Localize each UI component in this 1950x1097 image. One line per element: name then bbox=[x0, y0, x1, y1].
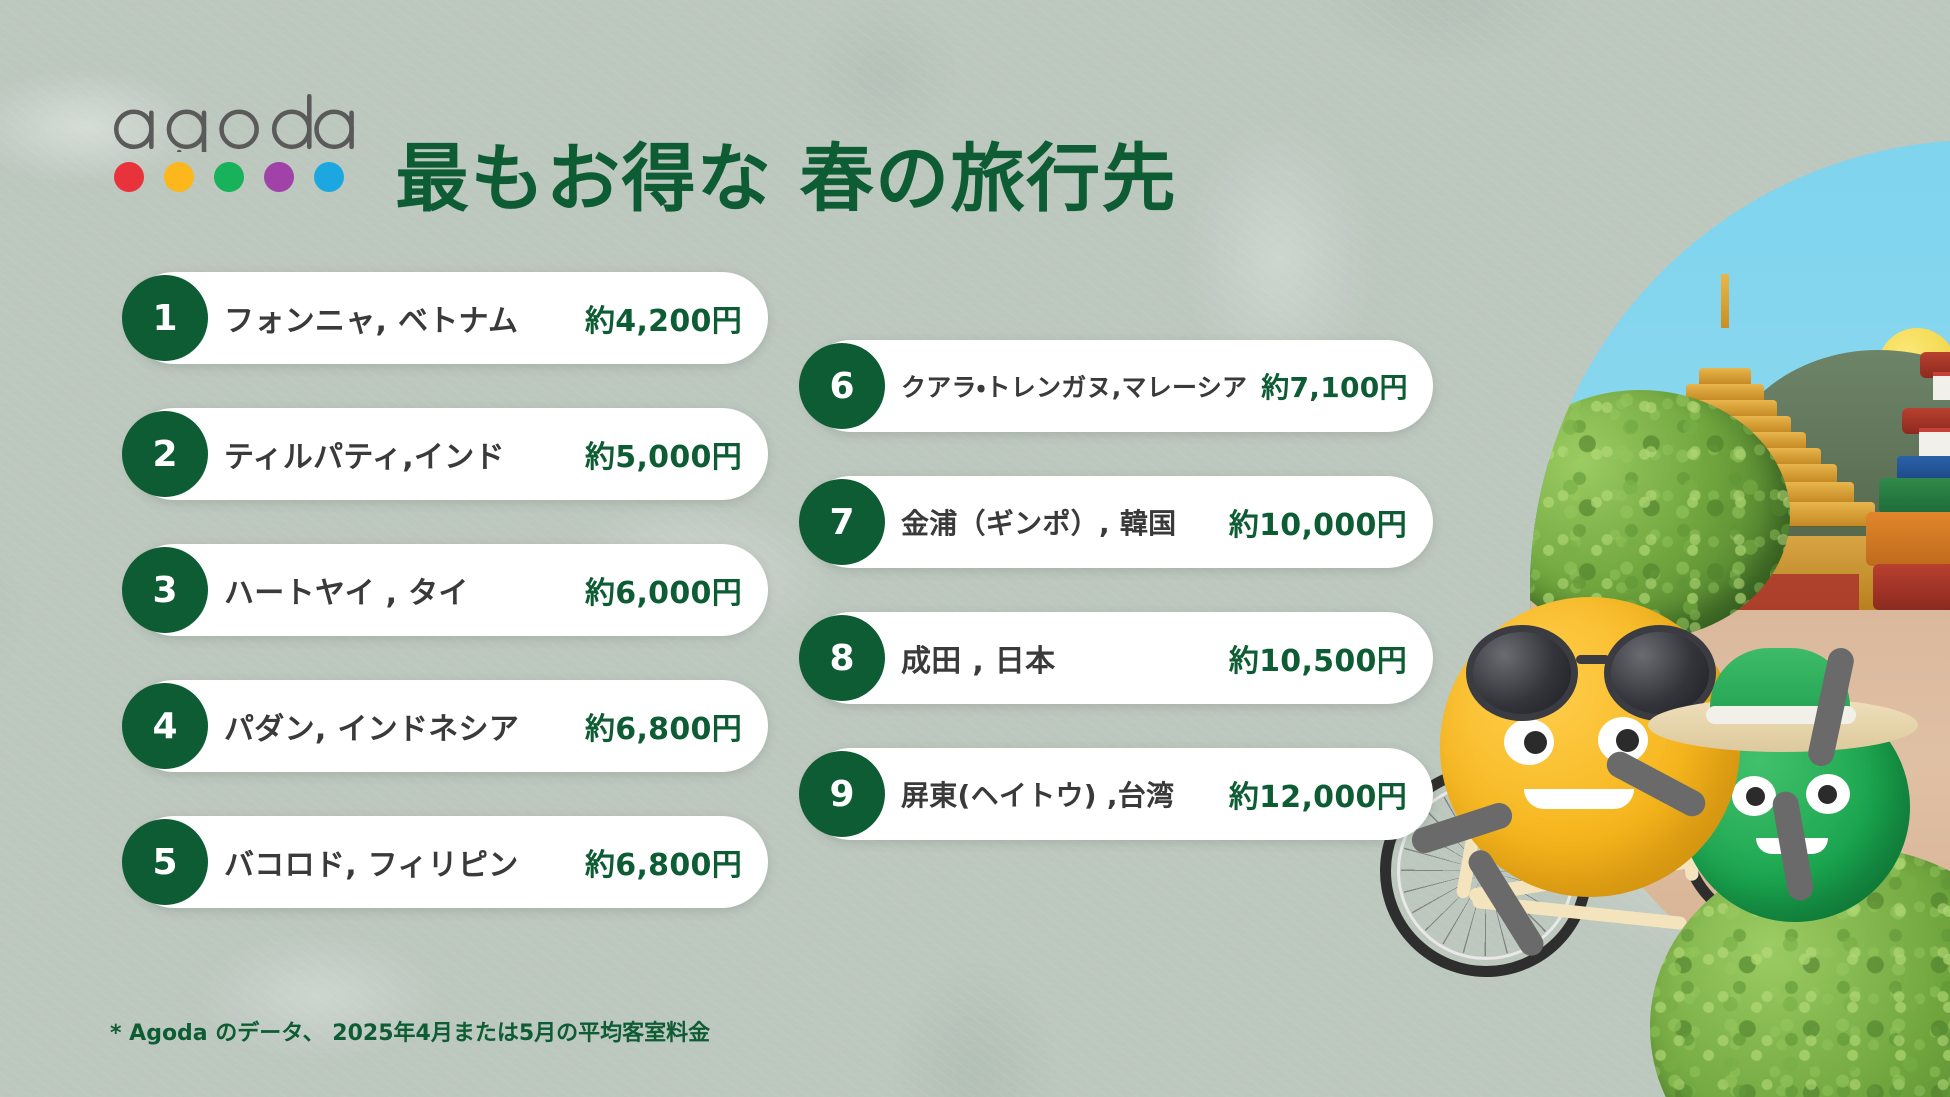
destination-name: フォンニャ, ベトナム bbox=[224, 296, 518, 340]
ranking-item-1[interactable]: 1 フォンニャ, ベトナム 約4,200円 bbox=[128, 272, 768, 364]
dot-green bbox=[214, 162, 244, 192]
ranking-item-body: ティルパティ,インド 約5,000円 bbox=[224, 432, 742, 476]
destination-name: パダン, インドネシア bbox=[224, 704, 519, 748]
ranking-item-9[interactable]: 9 屏東(ヘイトウ) ,台湾 約12,000円 bbox=[805, 748, 1433, 840]
ranking-item-body: バコロド, フィリピン 約6,800円 bbox=[224, 840, 742, 884]
dot-red bbox=[114, 162, 144, 192]
dot-yellow bbox=[164, 162, 194, 192]
rank-badge: 8 bbox=[799, 615, 885, 701]
destination-price: 約7,100円 bbox=[1261, 366, 1408, 406]
rank-badge: 7 bbox=[799, 479, 885, 565]
rank-badge: 4 bbox=[122, 683, 208, 769]
destination-price: 約6,800円 bbox=[585, 704, 742, 748]
ranking-item-body: クアラ・トレンガヌ,マレーシア 約7,100円 bbox=[901, 366, 1408, 406]
destination-name: 屏東(ヘイトウ) ,台湾 bbox=[901, 774, 1174, 814]
destination-name: ティルパティ,インド bbox=[224, 432, 505, 476]
ranking-item-3[interactable]: 3 ハートヤイ , タイ 約6,000円 bbox=[128, 544, 768, 636]
rank-badge: 9 bbox=[799, 751, 885, 837]
ranking-item-7[interactable]: 7 金浦（ギンポ）, 韓国 約10,000円 bbox=[805, 476, 1433, 568]
destination-price: 約6,000円 bbox=[585, 568, 742, 612]
ranking-item-6[interactable]: 6 クアラ・トレンガヌ,マレーシア 約7,100円 bbox=[805, 340, 1433, 432]
destination-price: 約5,000円 bbox=[585, 432, 742, 476]
agoda-logo-dots bbox=[114, 162, 348, 192]
agoda-wordmark bbox=[108, 88, 356, 152]
poster-canvas: 最もお得な 春の旅行先 1 フォンニャ, ベトナム 約4,200円 2 ティルパ… bbox=[0, 0, 1950, 1097]
ranking-item-body: ハートヤイ , タイ 約6,000円 bbox=[224, 568, 742, 612]
destination-name: ハートヤイ , タイ bbox=[224, 568, 469, 612]
ranking-item-8[interactable]: 8 成田 , 日本 約10,500円 bbox=[805, 612, 1433, 704]
rank-badge: 2 bbox=[122, 411, 208, 497]
ranking-column-right: 6 クアラ・トレンガヌ,マレーシア 約7,100円 7 金浦（ギンポ）, 韓国 … bbox=[805, 340, 1433, 884]
ranking-item-4[interactable]: 4 パダン, インドネシア 約6,800円 bbox=[128, 680, 768, 772]
data-source-footnote: * Agoda のデータ、 2025年4月または5月の平均客室料金 bbox=[110, 1015, 710, 1047]
ranking-column-left: 1 フォンニャ, ベトナム 約4,200円 2 ティルパティ,インド 約5,00… bbox=[128, 272, 768, 952]
destination-price: 約12,000円 bbox=[1229, 772, 1407, 816]
destination-price: 約6,800円 bbox=[585, 840, 742, 884]
destination-name: 成田 , 日本 bbox=[901, 636, 1055, 680]
destination-name: クアラ・トレンガヌ,マレーシア bbox=[901, 368, 1247, 404]
destination-name: 金浦（ギンポ）, 韓国 bbox=[901, 502, 1176, 542]
ranking-item-5[interactable]: 5 バコロド, フィリピン 約6,800円 bbox=[128, 816, 768, 908]
ranking-item-body: 金浦（ギンポ）, 韓国 約10,000円 bbox=[901, 500, 1407, 544]
rank-badge: 3 bbox=[122, 547, 208, 633]
destination-name: バコロド, フィリピン bbox=[224, 840, 519, 884]
dot-blue bbox=[314, 162, 344, 192]
rank-badge: 5 bbox=[122, 819, 208, 905]
page-title: 最もお得な 春の旅行先 bbox=[395, 138, 1177, 221]
destination-price: 約10,500円 bbox=[1229, 636, 1407, 680]
ranking-item-2[interactable]: 2 ティルパティ,インド 約5,000円 bbox=[128, 408, 768, 500]
ranking-item-body: パダン, インドネシア 約6,800円 bbox=[224, 704, 742, 748]
ranking-item-body: 成田 , 日本 約10,500円 bbox=[901, 636, 1407, 680]
ranking-item-body: 屏東(ヘイトウ) ,台湾 約12,000円 bbox=[901, 772, 1407, 816]
destination-price: 約10,000円 bbox=[1229, 500, 1407, 544]
agoda-logo[interactable] bbox=[108, 88, 348, 192]
rank-badge: 6 bbox=[799, 343, 885, 429]
rank-badge: 1 bbox=[122, 275, 208, 361]
dot-purple bbox=[264, 162, 294, 192]
destination-price: 約4,200円 bbox=[585, 296, 742, 340]
ranking-item-body: フォンニャ, ベトナム 約4,200円 bbox=[224, 296, 742, 340]
